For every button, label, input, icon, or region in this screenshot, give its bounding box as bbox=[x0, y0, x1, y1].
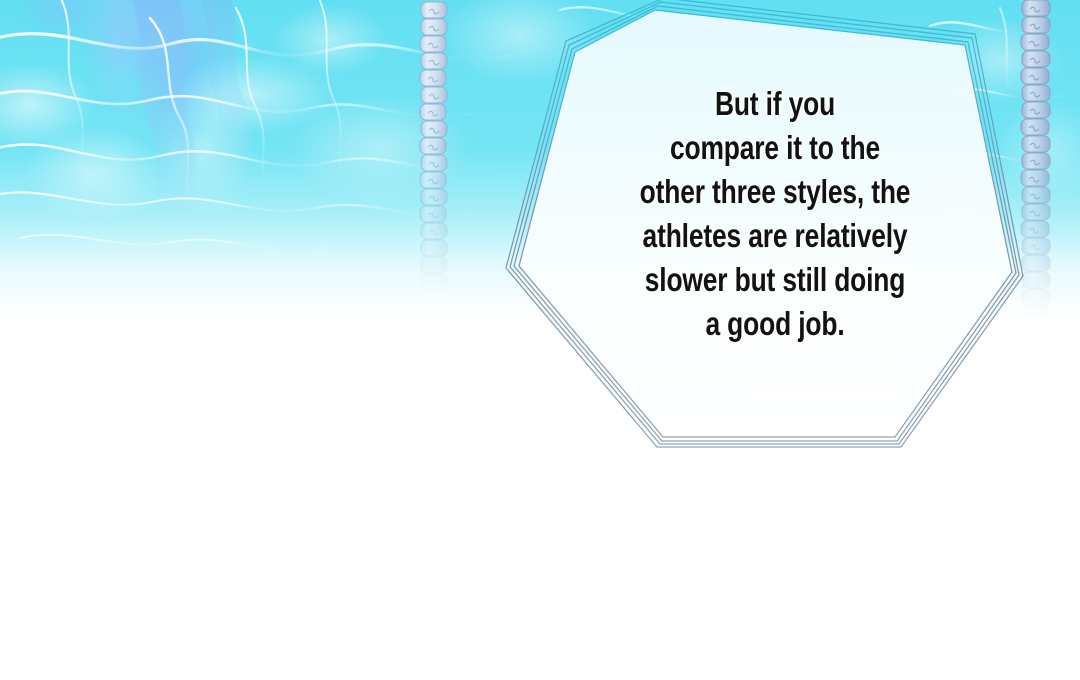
dialogue-text: But if you compare it to the other three… bbox=[603, 82, 947, 346]
lane-divider-rope-right bbox=[1018, 0, 1064, 320]
lane-divider-rope-left bbox=[418, 0, 460, 300]
comic-panel: But if you compare it to the other three… bbox=[0, 0, 1080, 680]
